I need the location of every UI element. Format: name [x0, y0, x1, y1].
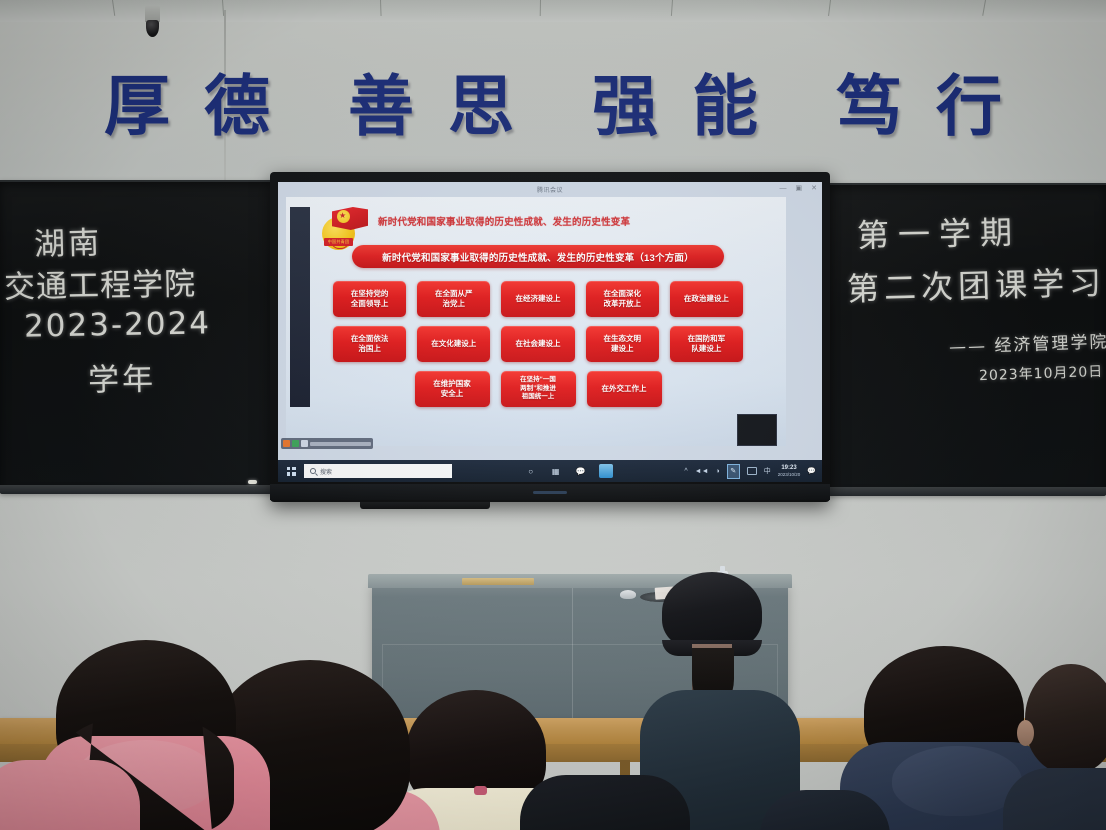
aspects-row: 在维护国家安全上 在坚持“一国两制”和推进祖国统一上 在外交工作上: [333, 371, 743, 407]
widgets-icon[interactable]: ▦: [549, 464, 563, 478]
slogan-char: 思: [448, 74, 514, 140]
slogan-char: 能: [692, 74, 758, 140]
chalk-tray-left: [0, 485, 281, 494]
chalk-piece: [248, 480, 257, 484]
ear: [1017, 720, 1034, 746]
network-icon[interactable]: ◄◄: [695, 468, 709, 475]
start-button[interactable]: [278, 467, 304, 476]
hair-tie: [474, 786, 487, 795]
aspect-cell: 在维护国家安全上: [415, 371, 490, 407]
chalk-text-line: 交通工程学院: [4, 258, 197, 306]
aspect-label: 在社会建设上: [516, 339, 561, 349]
taskbar-apps[interactable]: ○ ▦ 💬: [452, 464, 684, 478]
wall-slogan: 厚 德 善 思 强 能 笃 行: [0, 62, 1106, 152]
mic-muted-icon[interactable]: [283, 440, 290, 447]
aspects-row: 在全面依法治国上 在文化建设上 在社会建设上 在生态文明建设上 在国防和军队建设…: [333, 326, 743, 362]
teams-icon[interactable]: 💬: [574, 464, 588, 478]
classroom-scene: 厚 德 善 思 强 能 笃 行 湖南 交通工程学院 2023-2024 学年 第…: [0, 0, 1106, 830]
emblem-strip-text: 中国共青团: [328, 239, 350, 245]
display-screen[interactable]: 腾讯会议 — ▣ ✕ 中国共青团 新时代党和国家事业: [278, 182, 822, 482]
blackboard-right: 第一学期 第二次团课学习 —— 经济管理学院 2023年10月20日: [827, 183, 1106, 495]
student-foreground-center: [520, 775, 680, 830]
blackboard-left: 湖南 交通工程学院 2023-2024 学年: [0, 180, 281, 493]
chalk-text-line: 第一学期: [857, 207, 1022, 256]
display-mount: [360, 502, 490, 509]
search-placeholder: 搜索: [320, 467, 332, 476]
chalk-text-line: 学年: [88, 353, 157, 399]
slogan-char: 善: [348, 74, 414, 140]
student-foreground-right: [760, 790, 880, 830]
windows-logo-icon: [287, 467, 296, 476]
meeting-window-titlebar: 腾讯会议 — ▣ ✕: [278, 182, 822, 197]
meeting-status-label: [310, 442, 371, 446]
window-title: 腾讯会议: [537, 185, 563, 194]
chalk-text-line: 湖南: [33, 217, 102, 264]
aspect-cell: 在文化建设上: [417, 326, 490, 362]
ime-indicator[interactable]: 中: [764, 466, 771, 476]
beanie-hat: [662, 572, 762, 652]
minimize-icon[interactable]: —: [780, 185, 787, 192]
slogan-word-1: 厚 德: [104, 74, 270, 140]
student-foreground-left: [0, 760, 130, 830]
chalk-text-line: 2023年10月20日: [979, 361, 1104, 385]
presentation-slide: 中国共青团 新时代党和国家事业取得的历史性成就、发生的历史性变革 新时代党和国家…: [286, 197, 786, 446]
ceiling: [0, 0, 1106, 22]
podium-plaque: [462, 578, 534, 585]
search-icon: [310, 468, 316, 474]
torso: [0, 760, 140, 830]
aspect-cell: 在政治建设上: [670, 281, 743, 317]
chalk-text-line: —— 经济管理学院: [949, 327, 1106, 358]
pen-tool-icon[interactable]: ✎: [727, 464, 740, 479]
aspect-label: 在生态文明建设上: [603, 334, 641, 354]
aspect-label: 在外交工作上: [602, 384, 647, 394]
slide-header-text: 新时代党和国家事业取得的历史性成就、发生的历史性变革: [378, 214, 768, 228]
meeting-status-pill[interactable]: [281, 438, 373, 449]
security-camera-icon: [146, 20, 159, 37]
aspect-label: 在坚持“一国两制”和推进祖国统一上: [520, 376, 556, 401]
show-hidden-icons-chevron[interactable]: ^: [684, 468, 687, 475]
torso: [1003, 768, 1106, 830]
display-bezel-bottom: [270, 484, 830, 500]
slogan-char: 行: [936, 74, 1002, 140]
aspect-label: 在国防和军队建设上: [688, 334, 726, 354]
slide-side-bar: [290, 207, 310, 407]
task-view-icon[interactable]: ○: [524, 464, 538, 478]
display-led: [533, 491, 567, 494]
slogan-char: 德: [204, 74, 270, 140]
meeting-app-icon[interactable]: [599, 464, 613, 478]
aspect-label: 在坚持党的全面领导上: [351, 289, 389, 309]
student-short-hair-right: [1015, 664, 1106, 830]
search-input[interactable]: 搜索: [304, 464, 452, 478]
aspects-row: 在坚持党的全面领导上 在全面从严治党上 在经济建设上 在全面深化改革开放上 在政…: [333, 281, 743, 317]
chalk-tray-right: [827, 487, 1106, 496]
system-tray[interactable]: ^ ◄◄ ◑ ✎ 中 19:23 2023/10/20 💬: [684, 464, 822, 479]
aspect-cell: 在全面从严治党上: [417, 281, 490, 317]
aspect-cell: 在全面依法治国上: [333, 326, 406, 362]
aspect-cell: 在国防和军队建设上: [670, 326, 743, 362]
window-controls[interactable]: — ▣ ✕: [780, 185, 818, 192]
wall-mounted-display: 腾讯会议 — ▣ ✕ 中国共青团 新时代党和国家事业: [270, 172, 830, 502]
mouse: [620, 590, 636, 599]
volume-icon[interactable]: ◑: [716, 468, 720, 475]
aspect-cell: 在外交工作上: [587, 371, 662, 407]
maximize-icon[interactable]: ▣: [796, 185, 803, 192]
close-icon[interactable]: ✕: [811, 185, 817, 192]
chat-icon[interactable]: [301, 440, 308, 447]
notification-icon[interactable]: 💬: [807, 467, 816, 475]
aspects-grid: 在坚持党的全面领导上 在全面从严治党上 在经济建设上 在全面深化改革开放上 在政…: [333, 281, 743, 416]
hood: [892, 746, 1022, 816]
clock-time: 19:23: [781, 465, 796, 472]
clock-date: 2023/10/20: [778, 472, 801, 477]
aspect-label: 在文化建设上: [431, 339, 476, 349]
self-video-thumbnail[interactable]: [737, 414, 777, 446]
slide-banner-text: 新时代党和国家事业取得的历史性成就、发生的历史性变革（13个方面）: [382, 250, 694, 264]
aspect-cell: 在全面深化改革开放上: [586, 281, 659, 317]
slogan-char: 笃: [836, 74, 902, 140]
windows-desktop[interactable]: 腾讯会议 — ▣ ✕ 中国共青团 新时代党和国家事业: [278, 182, 822, 482]
slogan-char: 强: [592, 74, 658, 140]
windows-taskbar[interactable]: 搜索 ○ ▦ 💬 ^ ◄◄ ◑ ✎ 中: [278, 460, 822, 482]
slide-title-banner: 新时代党和国家事业取得的历史性成就、发生的历史性变革（13个方面）: [352, 245, 724, 268]
aspect-label: 在全面深化改革开放上: [603, 289, 641, 309]
torso: [760, 790, 890, 830]
chalk-text-line: 第二次团课学习: [846, 258, 1106, 311]
aspect-cell: 在社会建设上: [501, 326, 574, 362]
slogan-word-3: 强 能: [592, 74, 758, 140]
slogan-word-2: 善 思: [348, 74, 514, 140]
slogan-word-4: 笃 行: [836, 74, 1002, 140]
aspect-label: 在经济建设上: [516, 294, 561, 304]
aspect-label: 在政治建设上: [684, 294, 729, 304]
aspect-cell: 在经济建设上: [501, 281, 574, 317]
aspect-cell: 在生态文明建设上: [586, 326, 659, 362]
clock[interactable]: 19:23 2023/10/20: [778, 465, 801, 477]
chalk-text-line: 2023-2024: [24, 305, 212, 344]
keyboard-icon[interactable]: [747, 467, 757, 475]
torso: [520, 775, 690, 830]
head: [1025, 664, 1106, 774]
aspect-label: 在全面从严治党上: [435, 289, 473, 309]
person-icon[interactable]: [292, 440, 299, 447]
aspect-cell: 在坚持党的全面领导上: [333, 281, 406, 317]
slogan-char: 厚: [104, 74, 170, 140]
aspect-cell: 在坚持“一国两制”和推进祖国统一上: [501, 371, 576, 407]
aspect-label: 在全面依法治国上: [351, 334, 389, 354]
aspect-label: 在维护国家安全上: [433, 379, 471, 399]
